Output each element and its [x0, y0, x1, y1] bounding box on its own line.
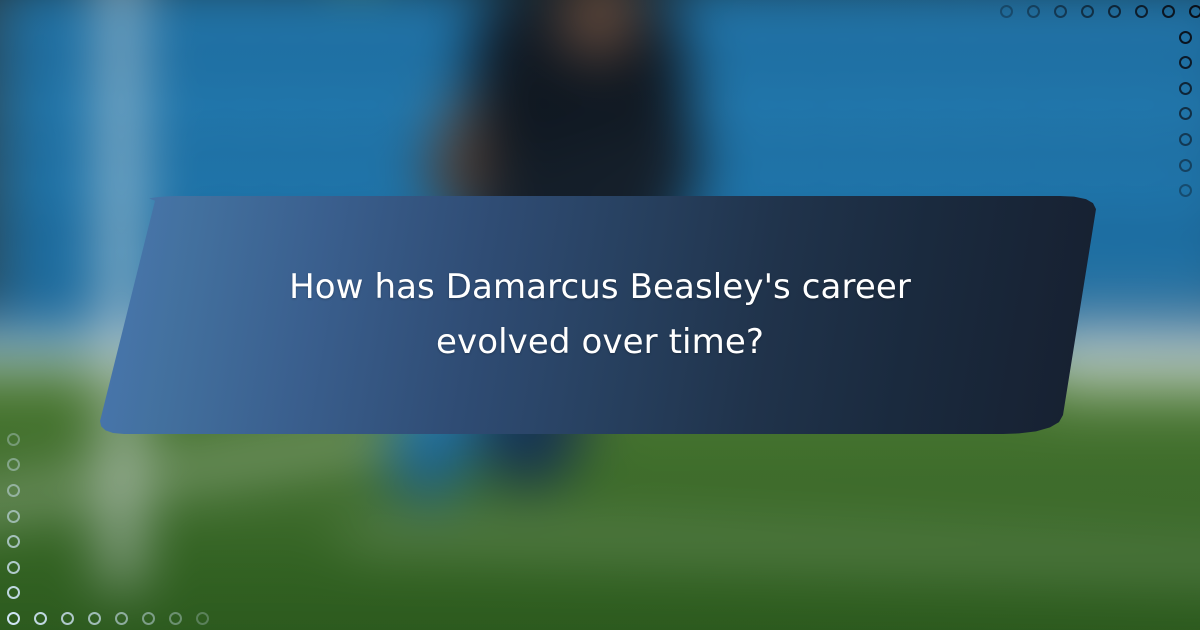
- decorative-ring: [1108, 5, 1121, 18]
- decorative-ring: [1000, 5, 1013, 18]
- decorative-ring: [1179, 159, 1192, 172]
- decorative-ring: [88, 612, 101, 625]
- decorative-ring: [1162, 5, 1175, 18]
- decorative-ring: [7, 433, 20, 446]
- question-card-surface: How has Damarcus Beasley's career evolve…: [100, 196, 1100, 434]
- decorative-ring: [1189, 5, 1200, 18]
- decorative-ring: [1179, 31, 1192, 44]
- question-card-canvas: How has Damarcus Beasley's career evolve…: [0, 0, 1200, 630]
- decorative-ring: [1179, 133, 1192, 146]
- decorative-ring: [1179, 82, 1192, 95]
- decorative-ring: [61, 612, 74, 625]
- decorative-ring: [115, 612, 128, 625]
- decorative-ring: [7, 510, 20, 523]
- decorative-ring: [1054, 5, 1067, 18]
- question-text: How has Damarcus Beasley's career evolve…: [220, 260, 980, 370]
- decorative-ring: [7, 484, 20, 497]
- decorative-ring: [7, 561, 20, 574]
- decorative-ring: [196, 612, 209, 625]
- question-card: How has Damarcus Beasley's career evolve…: [100, 196, 1100, 434]
- decorative-ring: [7, 612, 20, 625]
- decorative-ring: [1135, 5, 1148, 18]
- decorative-ring: [1081, 5, 1094, 18]
- decorative-ring: [142, 612, 155, 625]
- decorative-ring: [1027, 5, 1040, 18]
- decorative-ring: [34, 612, 47, 625]
- decorative-ring: [169, 612, 182, 625]
- question-card-body: How has Damarcus Beasley's career evolve…: [100, 196, 1100, 434]
